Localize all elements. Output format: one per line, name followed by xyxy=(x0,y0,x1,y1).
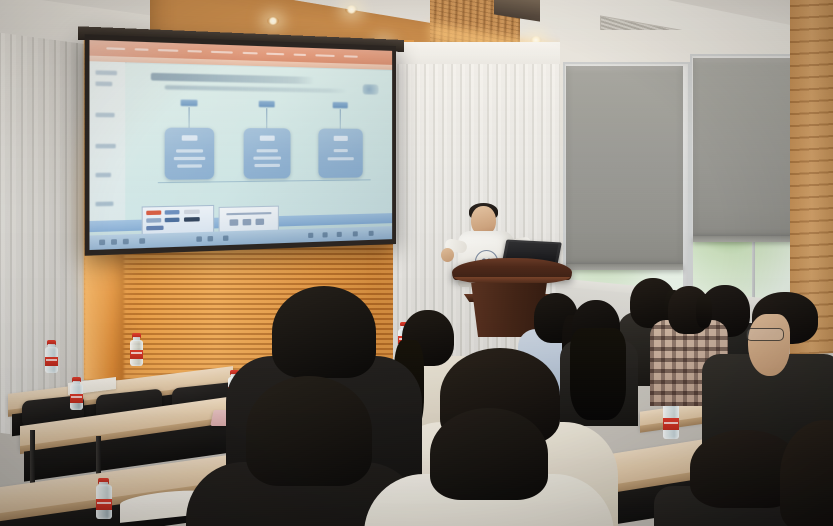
stage-tag xyxy=(259,101,275,108)
glasses-icon xyxy=(746,328,784,341)
slide-logo-icon xyxy=(363,84,379,94)
downlight-icon xyxy=(267,17,279,25)
screen-surface xyxy=(89,40,392,250)
person-face xyxy=(748,314,790,376)
window-mullion xyxy=(752,240,755,302)
connector-line xyxy=(266,108,267,129)
person-hair xyxy=(272,286,376,378)
stage-tag xyxy=(181,100,198,107)
downlight-icon xyxy=(345,5,358,14)
podium-lip xyxy=(454,277,570,284)
person-ponytail xyxy=(696,294,712,328)
slide-canvas xyxy=(125,63,392,229)
lecture-hall-photo: 20 xyxy=(0,0,833,526)
roller-blind[interactable] xyxy=(566,66,683,268)
projection-screen xyxy=(85,34,396,256)
taskbar-dialog[interactable] xyxy=(219,206,279,233)
slide-thumbnail-pane[interactable] xyxy=(89,61,126,230)
taskbar-popup[interactable] xyxy=(142,205,215,235)
concept-box xyxy=(165,128,214,180)
connector-line xyxy=(340,109,341,129)
desk-leg xyxy=(30,430,35,488)
slide-subtitle-text xyxy=(165,85,347,93)
connector-line xyxy=(189,107,190,129)
stage-tag xyxy=(333,102,348,108)
person-hair xyxy=(246,376,372,486)
slide-divider xyxy=(158,179,371,183)
person-hair xyxy=(430,408,548,500)
concept-box xyxy=(244,128,291,179)
roller-blind-hem[interactable] xyxy=(566,264,683,270)
podium-nameplate xyxy=(478,263,526,270)
concept-box xyxy=(318,129,362,178)
slide-title-text xyxy=(151,73,314,84)
person-long-hair xyxy=(570,328,626,420)
